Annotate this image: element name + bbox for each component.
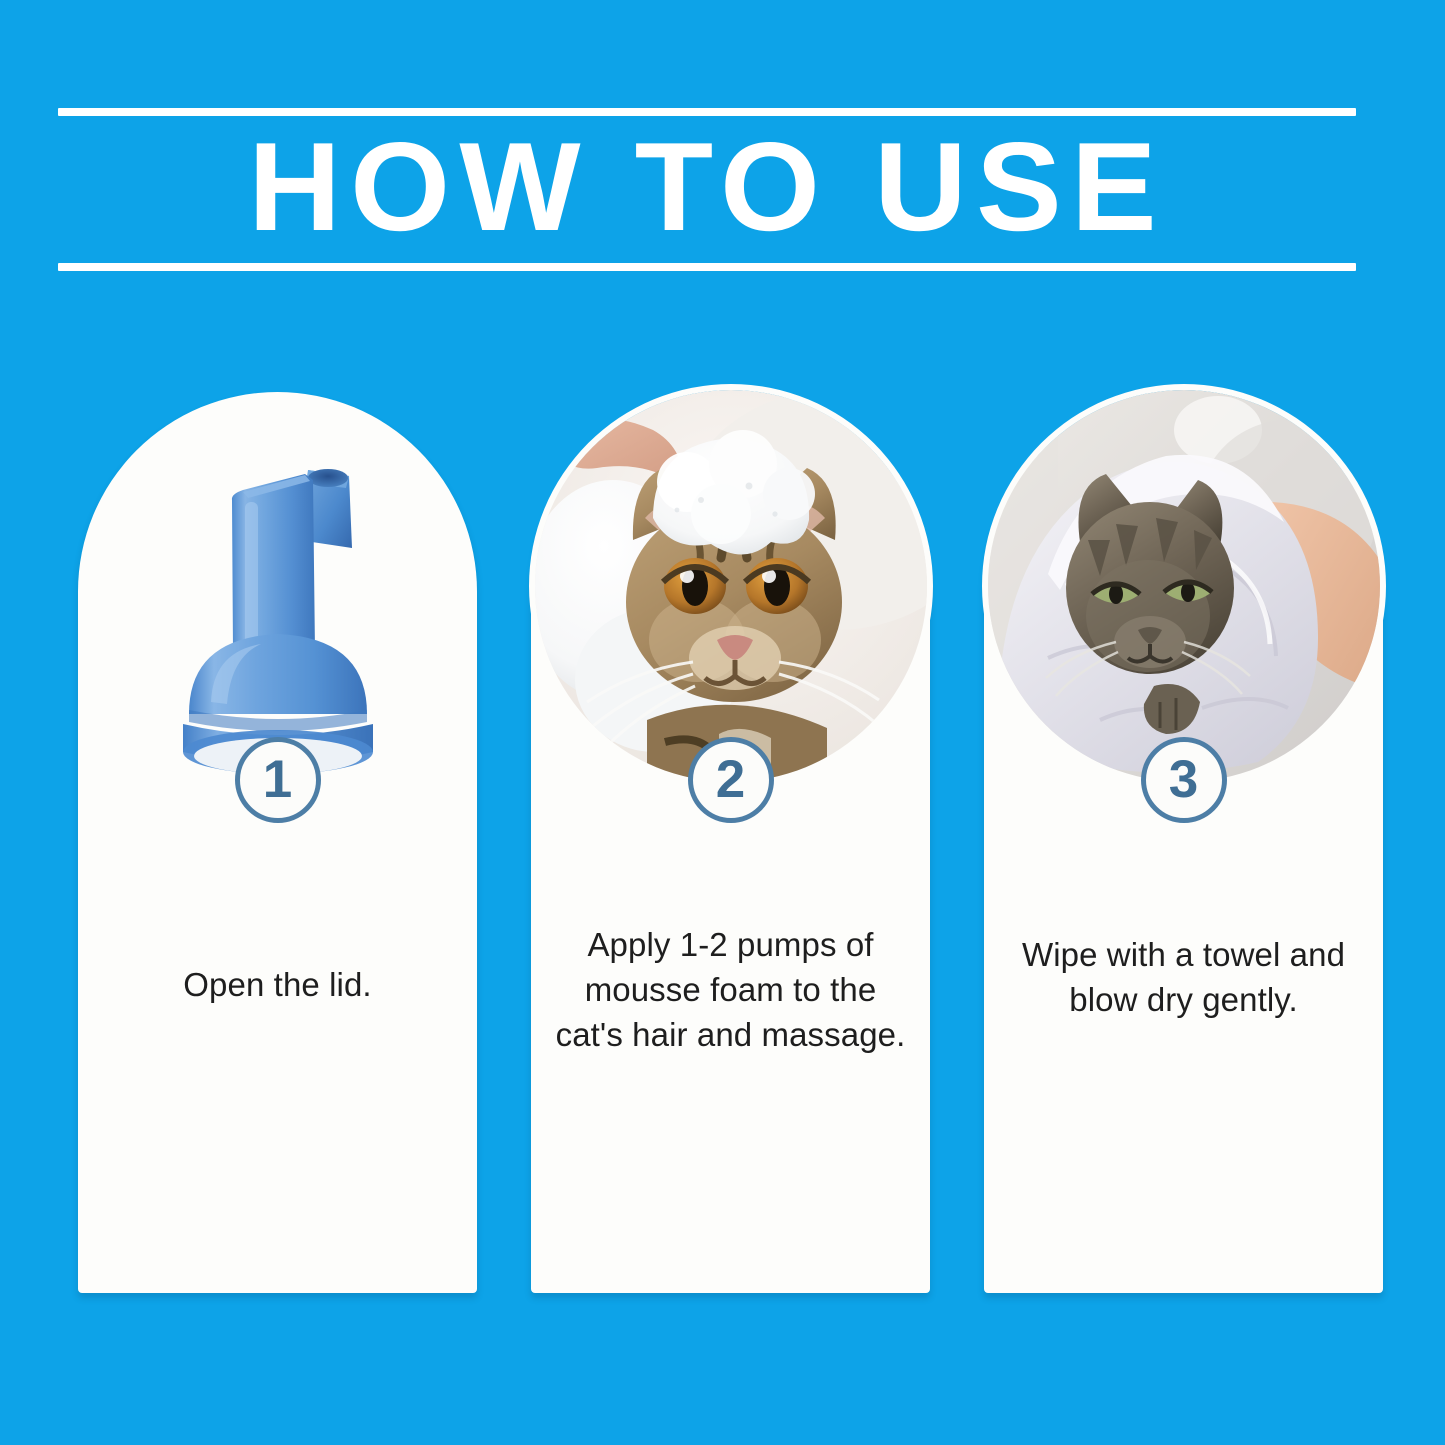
step-card-2: 2 Apply 1-2 pumps of mousse foam to the … [531,392,930,1293]
header-rule-top [58,108,1356,116]
cat-in-towel-photo [988,390,1380,782]
step-number-badge-1: 1 [235,737,321,823]
step-1-media [78,392,477,792]
step-number-1: 1 [263,753,292,806]
page-title: HOW TO USE [45,120,1369,254]
steps-row: 1 Open the lid. [78,392,1383,1294]
step-3-media [984,392,1383,792]
header-rule-bottom [58,263,1356,271]
step-2-media [531,392,930,792]
step-number-3: 3 [1169,753,1198,806]
kitten-with-foam-photo [535,390,927,782]
header: HOW TO USE [58,104,1356,284]
step-card-1: 1 Open the lid. [78,392,477,1293]
step-caption-3: Wipe with a towel and blow dry gently. [1002,932,1365,1022]
foam-pump-bottle-cap-icon [153,452,403,782]
step-caption-1: Open the lid. [96,962,459,1007]
how-to-use-poster: HOW TO USE [0,0,1445,1445]
step-card-3: 3 Wipe with a towel and blow dry gently. [984,392,1383,1293]
step-number-badge-3: 3 [1141,737,1227,823]
step-number-2: 2 [716,753,745,806]
step-number-badge-2: 2 [688,737,774,823]
step-caption-2: Apply 1-2 pumps of mousse foam to the ca… [549,922,912,1057]
